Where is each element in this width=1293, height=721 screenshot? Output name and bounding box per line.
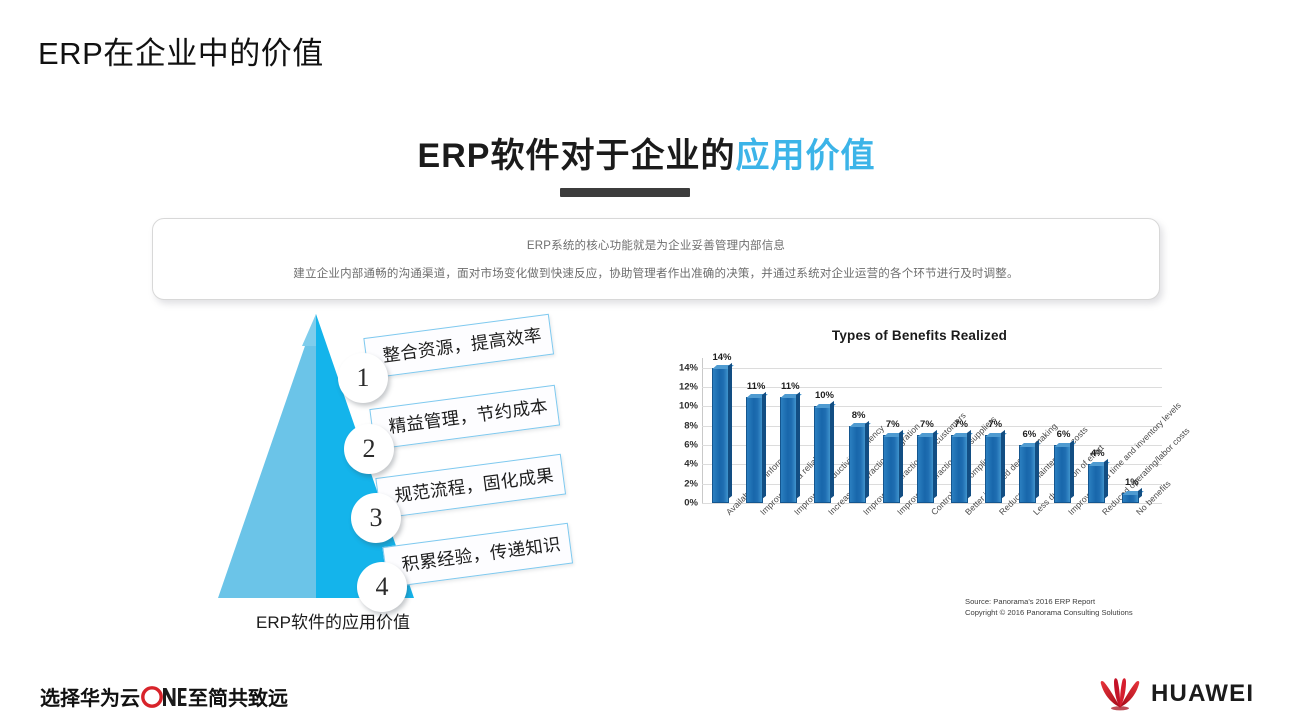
heading-text-primary: ERP软件对于企业的 <box>418 137 736 175</box>
chart-bar <box>780 397 797 503</box>
pyramid-caption: ERP软件的应用价值 <box>256 608 410 633</box>
chart-bar <box>883 435 900 503</box>
chart-y-tick-label: 12% <box>679 382 698 393</box>
infographic-heading: ERP软件对于企业的应用价值 <box>0 128 1293 177</box>
chart-bar-value-label: 1% <box>1125 477 1139 488</box>
pyramid-number-3: 3 <box>351 493 401 543</box>
chart-y-tick-label: 14% <box>679 362 698 373</box>
benefits-bar-chart: Types of Benefits Realized 0%2%4%6%8%10%… <box>662 318 1177 648</box>
chart-gridline <box>702 406 1162 407</box>
pyramid-diagram: 1 2 3 4 整合资源，提高效率 精益管理，节约成本 规范流程，固化成果 积累… <box>196 306 646 646</box>
chart-bar <box>814 406 831 503</box>
chart-bar <box>1054 445 1071 503</box>
chart-bar-value-label: 7% <box>954 419 968 430</box>
pyramid-number-2: 2 <box>344 424 394 474</box>
chart-source-line-2: Copyright © 2016 Panorama Consulting Sol… <box>965 607 1133 618</box>
chart-gridline <box>702 368 1162 369</box>
pyramid-number-4: 4 <box>357 562 407 612</box>
slide-canvas: ERP在企业中的价值 ERP软件对于企业的应用价值 ERP系统的核心功能就是为企… <box>0 0 1293 721</box>
footer-slogan: 选择华为云 至简共致远 <box>40 682 288 711</box>
chart-bar <box>849 426 866 503</box>
chart-bar-value-label: 7% <box>920 419 934 430</box>
chart-y-tick-label: 0% <box>684 498 698 509</box>
chart-bar-value-label: 6% <box>1023 429 1037 440</box>
chart-bar <box>917 435 934 503</box>
chart-bar <box>1088 464 1105 503</box>
huawei-cloud-one-mark-icon <box>141 686 187 708</box>
chart-y-tick-label: 10% <box>679 401 698 412</box>
chart-plot-area: 0%2%4%6%8%10%12%14%14%Availability of in… <box>702 358 1162 503</box>
chart-bar <box>1019 445 1036 503</box>
chart-bar-value-label: 7% <box>886 419 900 430</box>
chart-source-credit: Source: Panorama's 2016 ERP Report Copyr… <box>965 596 1133 618</box>
chart-bar-value-label: 11% <box>747 381 766 392</box>
chart-bar-value-label: 11% <box>781 381 800 392</box>
heading-underline-rule <box>560 188 690 197</box>
chart-bar <box>985 435 1002 503</box>
chart-bar-value-label: 7% <box>988 419 1002 430</box>
chart-bar <box>746 397 763 503</box>
chart-bar <box>712 368 729 503</box>
chart-y-tick-label: 2% <box>684 478 698 489</box>
chart-y-tick-label: 4% <box>684 459 698 470</box>
slogan-part-2: 至简共致远 <box>188 682 288 711</box>
chart-bar-value-label: 10% <box>815 390 834 401</box>
huawei-flower-icon <box>1098 677 1142 711</box>
chart-bar-value-label: 6% <box>1057 429 1071 440</box>
description-line-2: 建立企业内部通畅的沟通渠道，面对市场变化做到快速反应，协助管理者作出准确的决策，… <box>293 265 1018 281</box>
chart-bar <box>951 435 968 503</box>
huawei-wordmark: HUAWEI <box>1151 680 1254 708</box>
huawei-logo: HUAWEI <box>1098 677 1254 711</box>
chart-y-tick-label: 8% <box>684 420 698 431</box>
description-line-1: ERP系统的核心功能就是为企业妥善管理内部信息 <box>527 237 785 253</box>
chart-bar-value-label: 8% <box>852 410 866 421</box>
slogan-part-1: 选择华为云 <box>40 682 140 711</box>
chart-y-axis-line <box>702 358 703 503</box>
chart-bar-value-label: 4% <box>1091 448 1105 459</box>
heading-text-accent: 应用价值 <box>735 137 875 175</box>
chart-bar-value-label: 14% <box>712 352 731 363</box>
page-title: ERP在企业中的价值 <box>38 28 324 73</box>
chart-gridline <box>702 387 1162 388</box>
chart-source-line-1: Source: Panorama's 2016 ERP Report <box>965 596 1133 607</box>
chart-bar <box>1122 493 1139 503</box>
description-box: ERP系统的核心功能就是为企业妥善管理内部信息 建立企业内部通畅的沟通渠道，面对… <box>152 218 1160 300</box>
chart-title: Types of Benefits Realized <box>662 328 1177 343</box>
chart-y-tick-label: 6% <box>684 440 698 451</box>
pyramid-number-1: 1 <box>338 353 388 403</box>
